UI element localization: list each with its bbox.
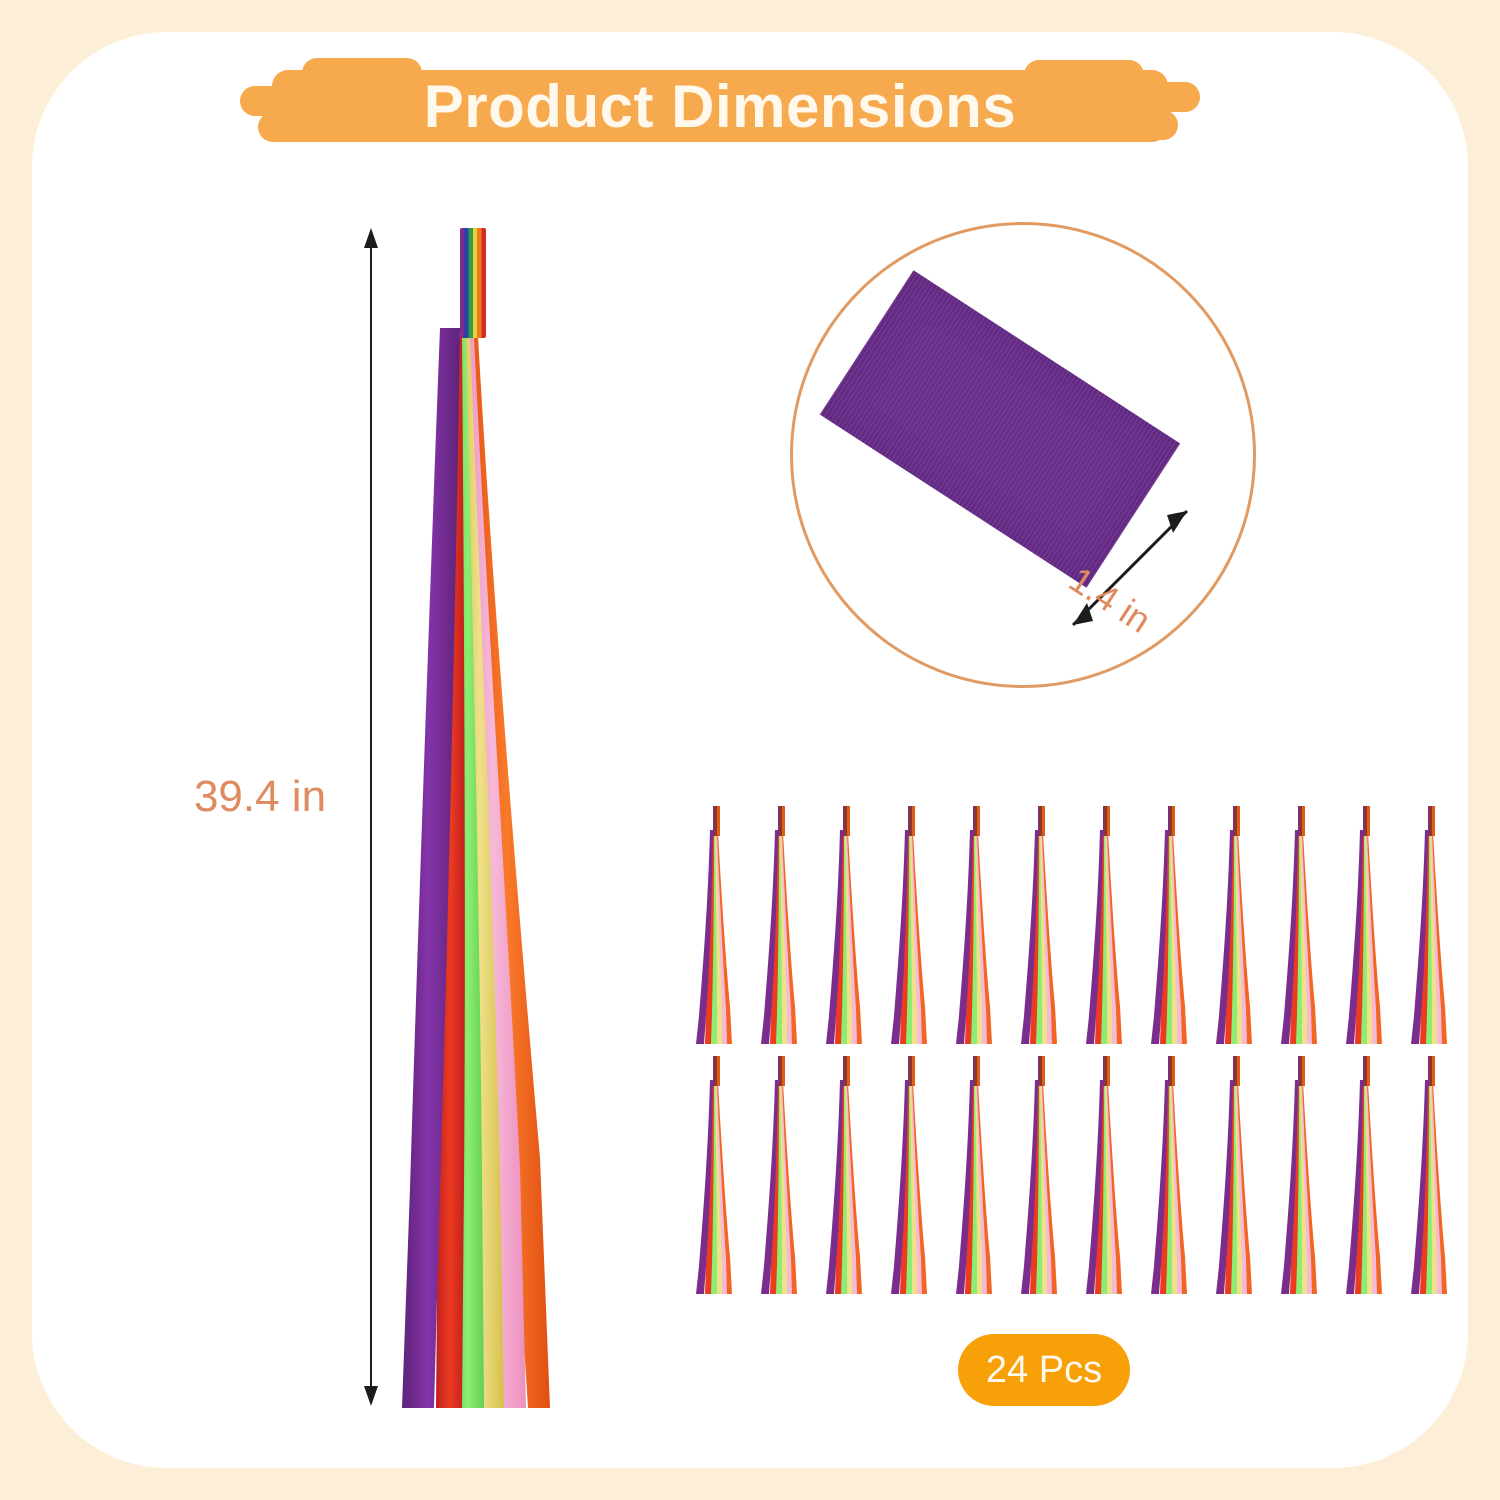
mini-handle (1103, 1056, 1110, 1086)
product-ribbon-thumbnail (889, 806, 935, 1046)
grid-row (694, 1056, 1474, 1306)
mini-handle (843, 806, 850, 836)
product-ribbon-thumbnail (1019, 806, 1065, 1046)
ribbon-streamers (400, 228, 600, 1408)
product-ribbon-main (400, 228, 600, 1408)
mini-handle (1103, 806, 1110, 836)
product-ribbon-thumbnail (1279, 1056, 1325, 1296)
arrow-shaft (370, 240, 372, 1394)
mini-handle (973, 1056, 980, 1086)
title-banner: Product Dimensions (236, 52, 1204, 160)
product-ribbon-thumbnail (1149, 806, 1195, 1046)
product-ribbon-thumbnail (1084, 1056, 1130, 1296)
mini-handle (908, 806, 915, 836)
product-ribbon-thumbnail (1344, 806, 1390, 1046)
mini-handle (1298, 806, 1305, 836)
detail-zoom-circle: 1.4 in (790, 222, 1256, 688)
mini-handle (1038, 1056, 1045, 1086)
mini-handle (778, 806, 785, 836)
product-ribbon-thumbnail (824, 806, 870, 1046)
product-ribbon-thumbnail (1409, 806, 1455, 1046)
mini-handle (908, 1056, 915, 1086)
arrow-down-icon (364, 1386, 378, 1406)
rainbow-handle-strap (460, 228, 486, 338)
product-ribbon-thumbnail (1344, 1056, 1390, 1296)
mini-handle (713, 1056, 720, 1086)
mini-handle (973, 806, 980, 836)
product-ribbon-thumbnail (1279, 806, 1325, 1046)
product-ribbon-thumbnail (954, 1056, 1000, 1296)
product-ribbon-thumbnail (759, 1056, 805, 1296)
mini-handle (1168, 806, 1175, 836)
product-ribbon-thumbnail (1149, 1056, 1195, 1296)
product-ribbon-thumbnail (1084, 806, 1130, 1046)
mini-handle (1233, 806, 1240, 836)
height-dimension-arrow (364, 228, 378, 1406)
grid-row (694, 806, 1474, 1056)
mini-handle (1428, 806, 1435, 836)
product-ribbon-thumbnail (954, 806, 1000, 1046)
product-ribbon-thumbnail (759, 806, 805, 1046)
page-title: Product Dimensions (236, 52, 1204, 160)
product-ribbon-thumbnail (1214, 1056, 1260, 1296)
mini-handle (1428, 1056, 1435, 1086)
mini-handle (1168, 1056, 1175, 1086)
mini-handle (1298, 1056, 1305, 1086)
mini-handle (1363, 806, 1370, 836)
mini-handle (1038, 806, 1045, 836)
product-ribbon-thumbnail (1214, 806, 1260, 1046)
mini-handle (1233, 1056, 1240, 1086)
mini-handle (843, 1056, 850, 1086)
product-ribbon-thumbnail (694, 1056, 740, 1296)
mini-handle (713, 806, 720, 836)
product-ribbon-thumbnail (694, 806, 740, 1046)
product-ribbon-thumbnail (889, 1056, 935, 1296)
product-ribbon-thumbnail (824, 1056, 870, 1296)
mini-handle (1363, 1056, 1370, 1086)
product-ribbon-thumbnail (1409, 1056, 1455, 1296)
quantity-badge: 24 Pcs (958, 1334, 1130, 1406)
mini-handle (778, 1056, 785, 1086)
product-ribbon-thumbnail (1019, 1056, 1065, 1296)
height-label: 39.4 in (170, 772, 350, 822)
quantity-grid (694, 806, 1474, 1306)
